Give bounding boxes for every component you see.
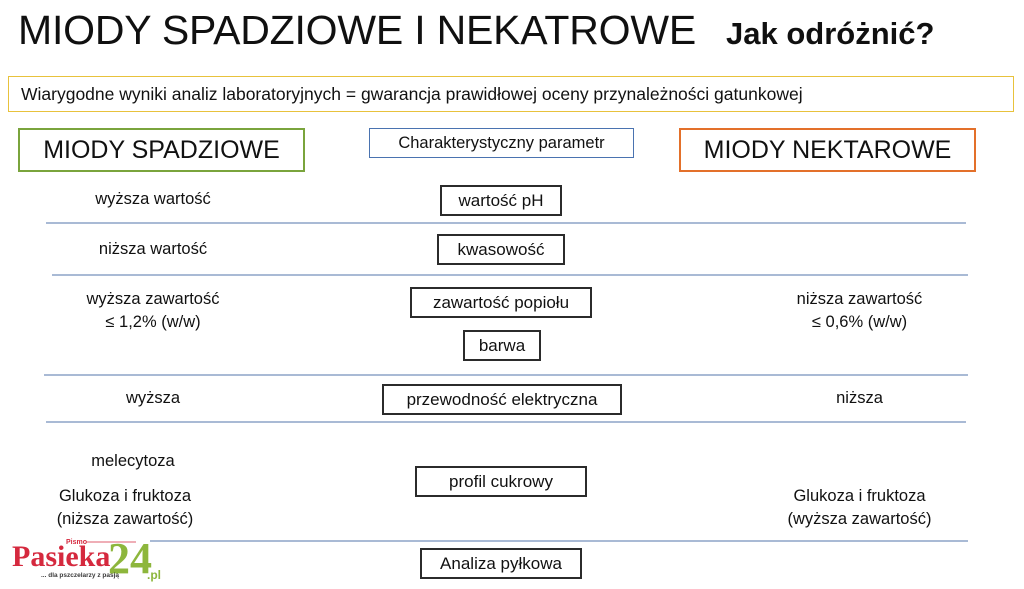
column-header-honeydew: MIODY SPADZIOWE (18, 128, 305, 172)
pasieka24-logo[interactable]: 24 .pl Pismo Pasieka ... dla pszczelarzy… (4, 533, 184, 587)
row-sugar-left-value: Glukoza i fruktoza (niższa zawartość) (10, 485, 240, 531)
row-acidity-left-value: niższa wartość (18, 238, 288, 261)
row-conductivity-left-value: wyższa (18, 387, 288, 410)
row-conductivity-right-value: niższa (722, 387, 997, 410)
title-main-text: MIODY SPADZIOWE I NEKATROWE (18, 6, 696, 54)
row-divider-5 (150, 540, 968, 542)
row-ash-left-value: wyższa zawartość ≤ 1,2% (w/w) (18, 288, 288, 334)
column-header-nectar: MIODY NEKTAROWE (679, 128, 976, 172)
row-divider-3 (44, 374, 968, 376)
parameter-chip-pollen-analysis: Analiza pyłkowa (420, 548, 582, 579)
title-subtitle-text: Jak odróżnić? (726, 10, 934, 58)
svg-text:Pasieka: Pasieka (12, 540, 110, 573)
column-header-parameter: Charakterystyczny parametr (369, 128, 634, 158)
column-header-nectar-label: MIODY NEKTAROWE (704, 136, 952, 164)
slide-canvas: MIODY SPADZIOWE I NEKATROWE Jak odróżnić… (0, 0, 1024, 589)
parameter-chip-colour: barwa (463, 330, 541, 361)
row-ash-right-value: niższa zawartość ≤ 0,6% (w/w) (722, 288, 997, 334)
parameter-chip-sugar-profile: profil cukrowy (415, 466, 587, 497)
pasieka24-logo-graphic: 24 .pl Pismo Pasieka ... dla pszczelarzy… (4, 533, 184, 587)
parameter-chip-ash: zawartość popiołu (410, 287, 592, 318)
parameter-chip-conductivity: przewodność elektryczna (382, 384, 622, 415)
parameter-chip-acidity: kwasowość (437, 234, 565, 265)
row-divider-4 (46, 421, 966, 423)
info-banner: Wiarygodne wyniki analiz laboratoryjnych… (8, 76, 1014, 112)
parameter-chip-ph: wartość pH (440, 185, 562, 216)
column-header-honeydew-label: MIODY SPADZIOWE (43, 136, 280, 164)
row-sugar-left-note: melecytoza (18, 450, 248, 473)
page-title: MIODY SPADZIOWE I NEKATROWE Jak odróżnić… (0, 6, 1024, 62)
svg-text:.pl: .pl (147, 568, 161, 582)
column-header-parameter-label: Charakterystyczny parametr (398, 134, 604, 153)
row-ph-left-value: wyższa wartość (18, 188, 288, 211)
row-sugar-right-value: Glukoza i fruktoza (wyższa zawartość) (722, 485, 997, 531)
row-divider-1 (46, 222, 966, 224)
row-divider-2 (52, 274, 968, 276)
info-banner-text: Wiarygodne wyniki analiz laboratoryjnych… (21, 84, 803, 104)
svg-text:... dla pszczelarzy z pasją: ... dla pszczelarzy z pasją (41, 572, 119, 579)
